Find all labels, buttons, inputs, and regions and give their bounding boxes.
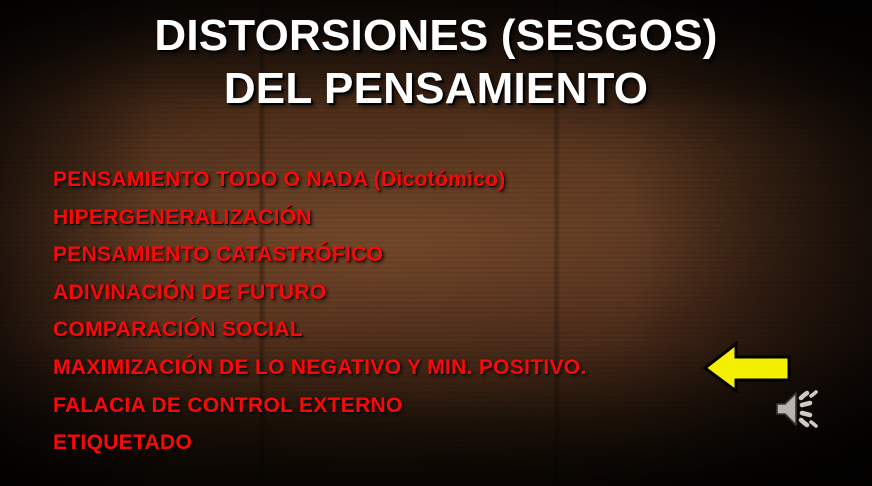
list-item-2: HIPERGENERALIZACIÓN <box>53 199 587 237</box>
list-item-6: MAXIMIZACIÓN DE LO NEGATIVO Y MIN. POSIT… <box>53 349 587 387</box>
list-item-8: ETIQUETADO <box>53 424 587 462</box>
list-item-4: ADIVINACIÓN DE FUTURO <box>53 274 587 312</box>
left-arrow-icon <box>702 341 792 393</box>
speaker-icon <box>773 389 819 429</box>
distortions-list: PENSAMIENTO TODO O NADA (Dicotómico) HIP… <box>53 161 587 462</box>
title-line-1: DISTORSIONES (SESGOS) <box>0 9 872 62</box>
list-item-1: PENSAMIENTO TODO O NADA (Dicotómico) <box>53 161 587 199</box>
list-item-3: PENSAMIENTO CATASTRÓFICO <box>53 236 587 274</box>
slide-title: DISTORSIONES (SESGOS) DEL PENSAMIENTO <box>0 9 872 115</box>
title-line-2: DEL PENSAMIENTO <box>0 62 872 115</box>
list-item-5: COMPARACIÓN SOCIAL <box>53 311 587 349</box>
list-item-7: FALACIA DE CONTROL EXTERNO <box>53 387 587 425</box>
presentation-slide: DISTORSIONES (SESGOS) DEL PENSAMIENTO PE… <box>0 0 872 486</box>
